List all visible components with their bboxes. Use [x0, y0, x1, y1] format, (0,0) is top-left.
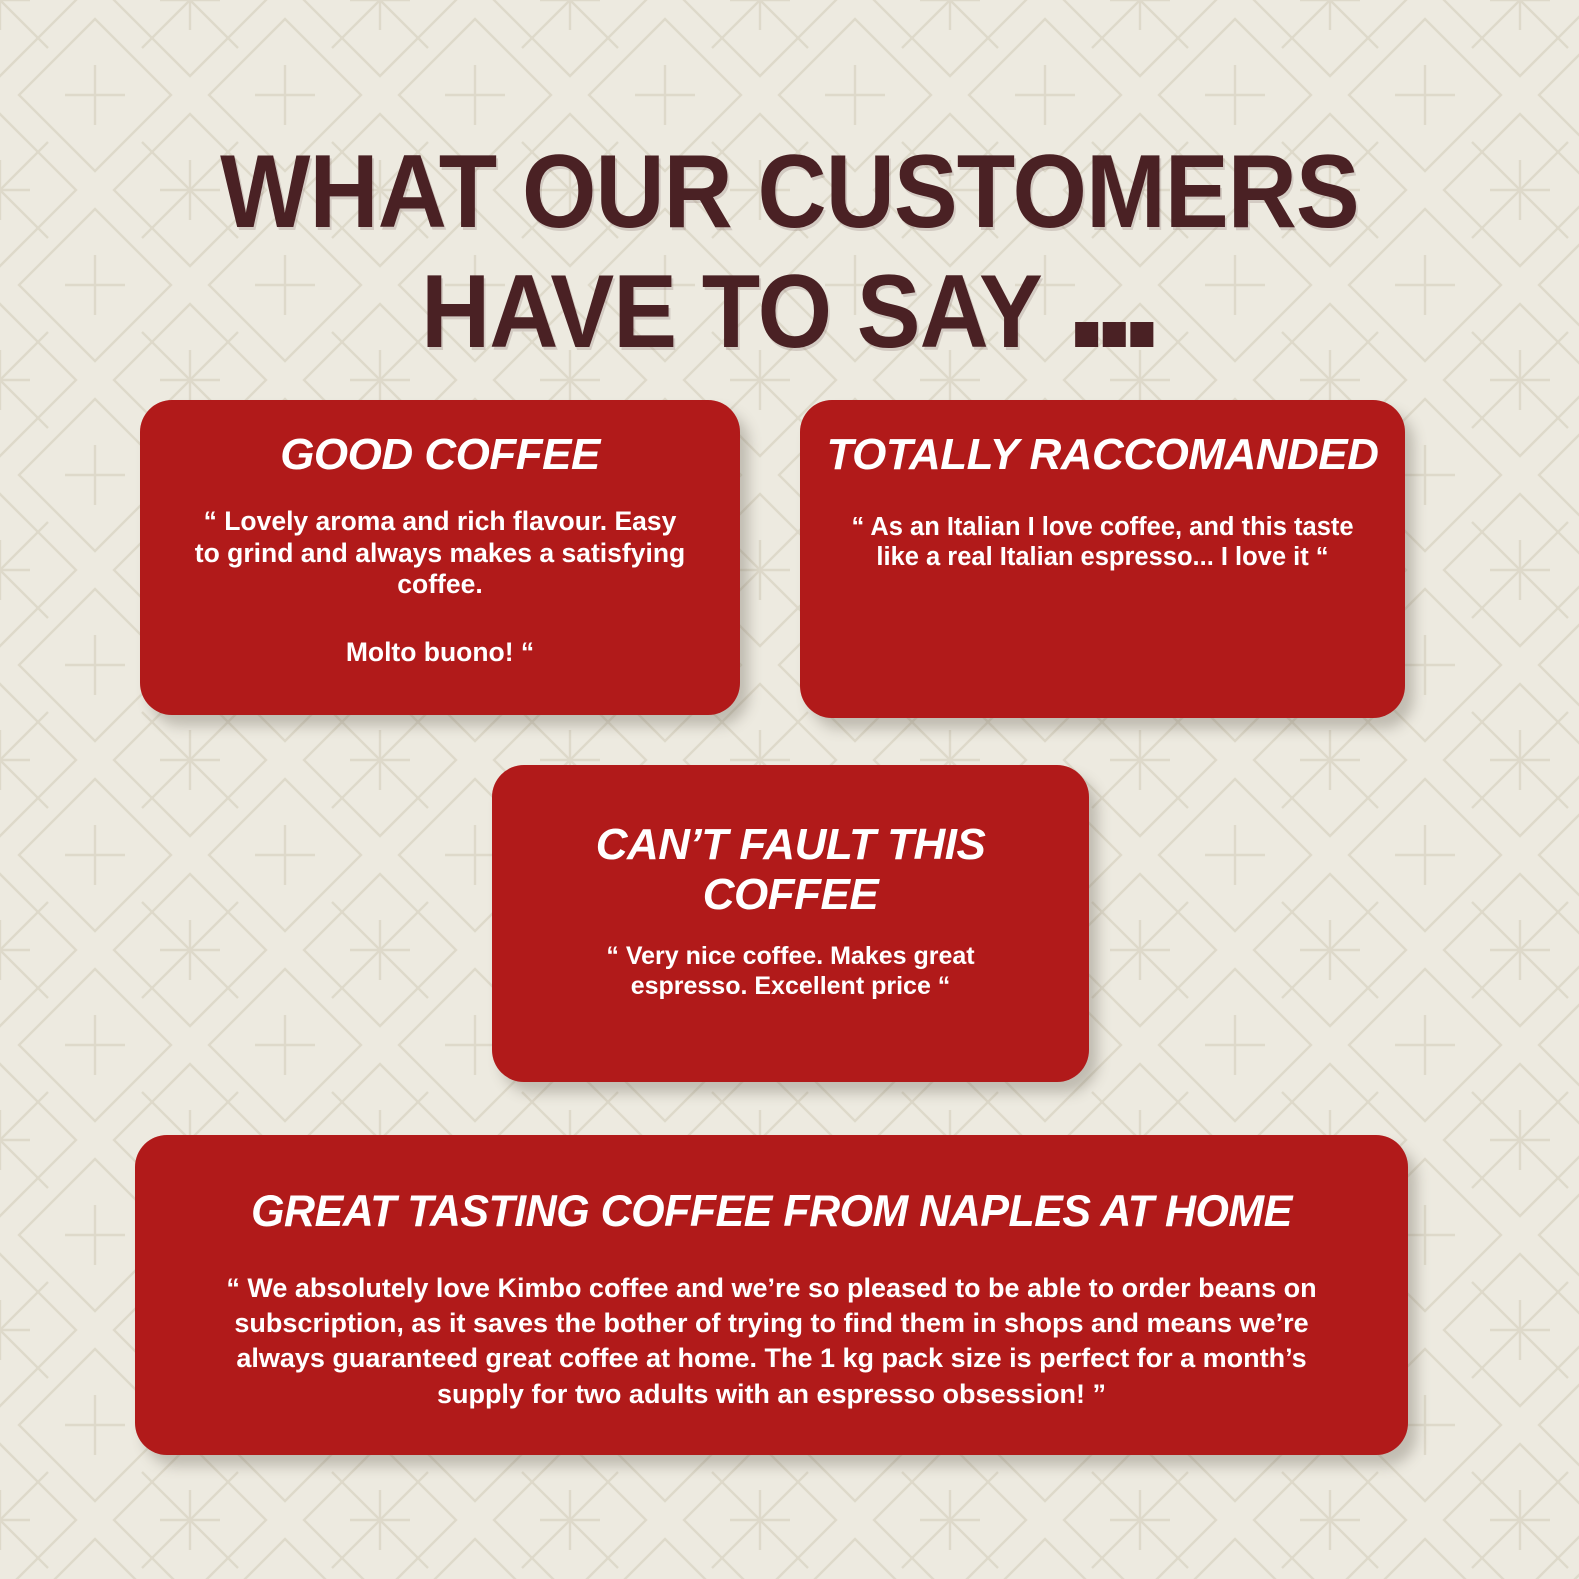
testimonial-title: TOTALLY RACCOMANDED: [822, 430, 1383, 480]
testimonial-paragraph: “ Lovely aroma and rich flavour. Easy to…: [188, 506, 692, 601]
testimonial-paragraph: Molto buono! “: [188, 637, 692, 669]
page-title-line-2-text: HAVE TO SAY: [421, 254, 1040, 370]
testimonial-body: “ As an Italian I love coffee, and this …: [822, 512, 1383, 573]
testimonial-body: “ Very nice coffee. Makes great espresso…: [552, 941, 1029, 1001]
testimonial-body: “ Lovely aroma and rich flavour. Easy to…: [174, 506, 706, 669]
testimonial-title: GOOD COFFEE: [174, 430, 706, 480]
testimonial-title: CAN’T FAULT THIS COFFEE: [552, 820, 1029, 919]
testimonial-card-great-tasting: GREAT TASTING COFFEE FROM NAPLES AT HOME…: [135, 1135, 1408, 1455]
testimonial-paragraph: “ Very nice coffee. Makes great espresso…: [562, 941, 1019, 1001]
testimonials-poster: WHAT OUR CUSTOMERS HAVE TO SAY GOOD COFF…: [0, 0, 1579, 1579]
testimonial-card-good-coffee: GOOD COFFEE “ Lovely aroma and rich flav…: [140, 400, 740, 715]
testimonial-card-cant-fault: CAN’T FAULT THIS COFFEE “ Very nice coff…: [492, 765, 1089, 1082]
page-title-line-1: WHAT OUR CUSTOMERS: [63, 132, 1516, 253]
testimonial-card-totally-raccomanded: TOTALLY RACCOMANDED “ As an Italian I lo…: [800, 400, 1405, 718]
page-title-line-2: HAVE TO SAY: [63, 252, 1516, 373]
testimonial-title: GREAT TASTING COFFEE FROM NAPLES AT HOME: [196, 1187, 1347, 1237]
page-title: WHAT OUR CUSTOMERS HAVE TO SAY: [63, 132, 1516, 373]
testimonial-paragraph: “ As an Italian I love coffee, and this …: [844, 512, 1361, 573]
testimonial-paragraph: “ We absolutely love Kimbo coffee and we…: [209, 1271, 1334, 1411]
testimonial-body: “ We absolutely love Kimbo coffee and we…: [175, 1271, 1368, 1411]
ellipsis-icon: [1075, 322, 1158, 347]
